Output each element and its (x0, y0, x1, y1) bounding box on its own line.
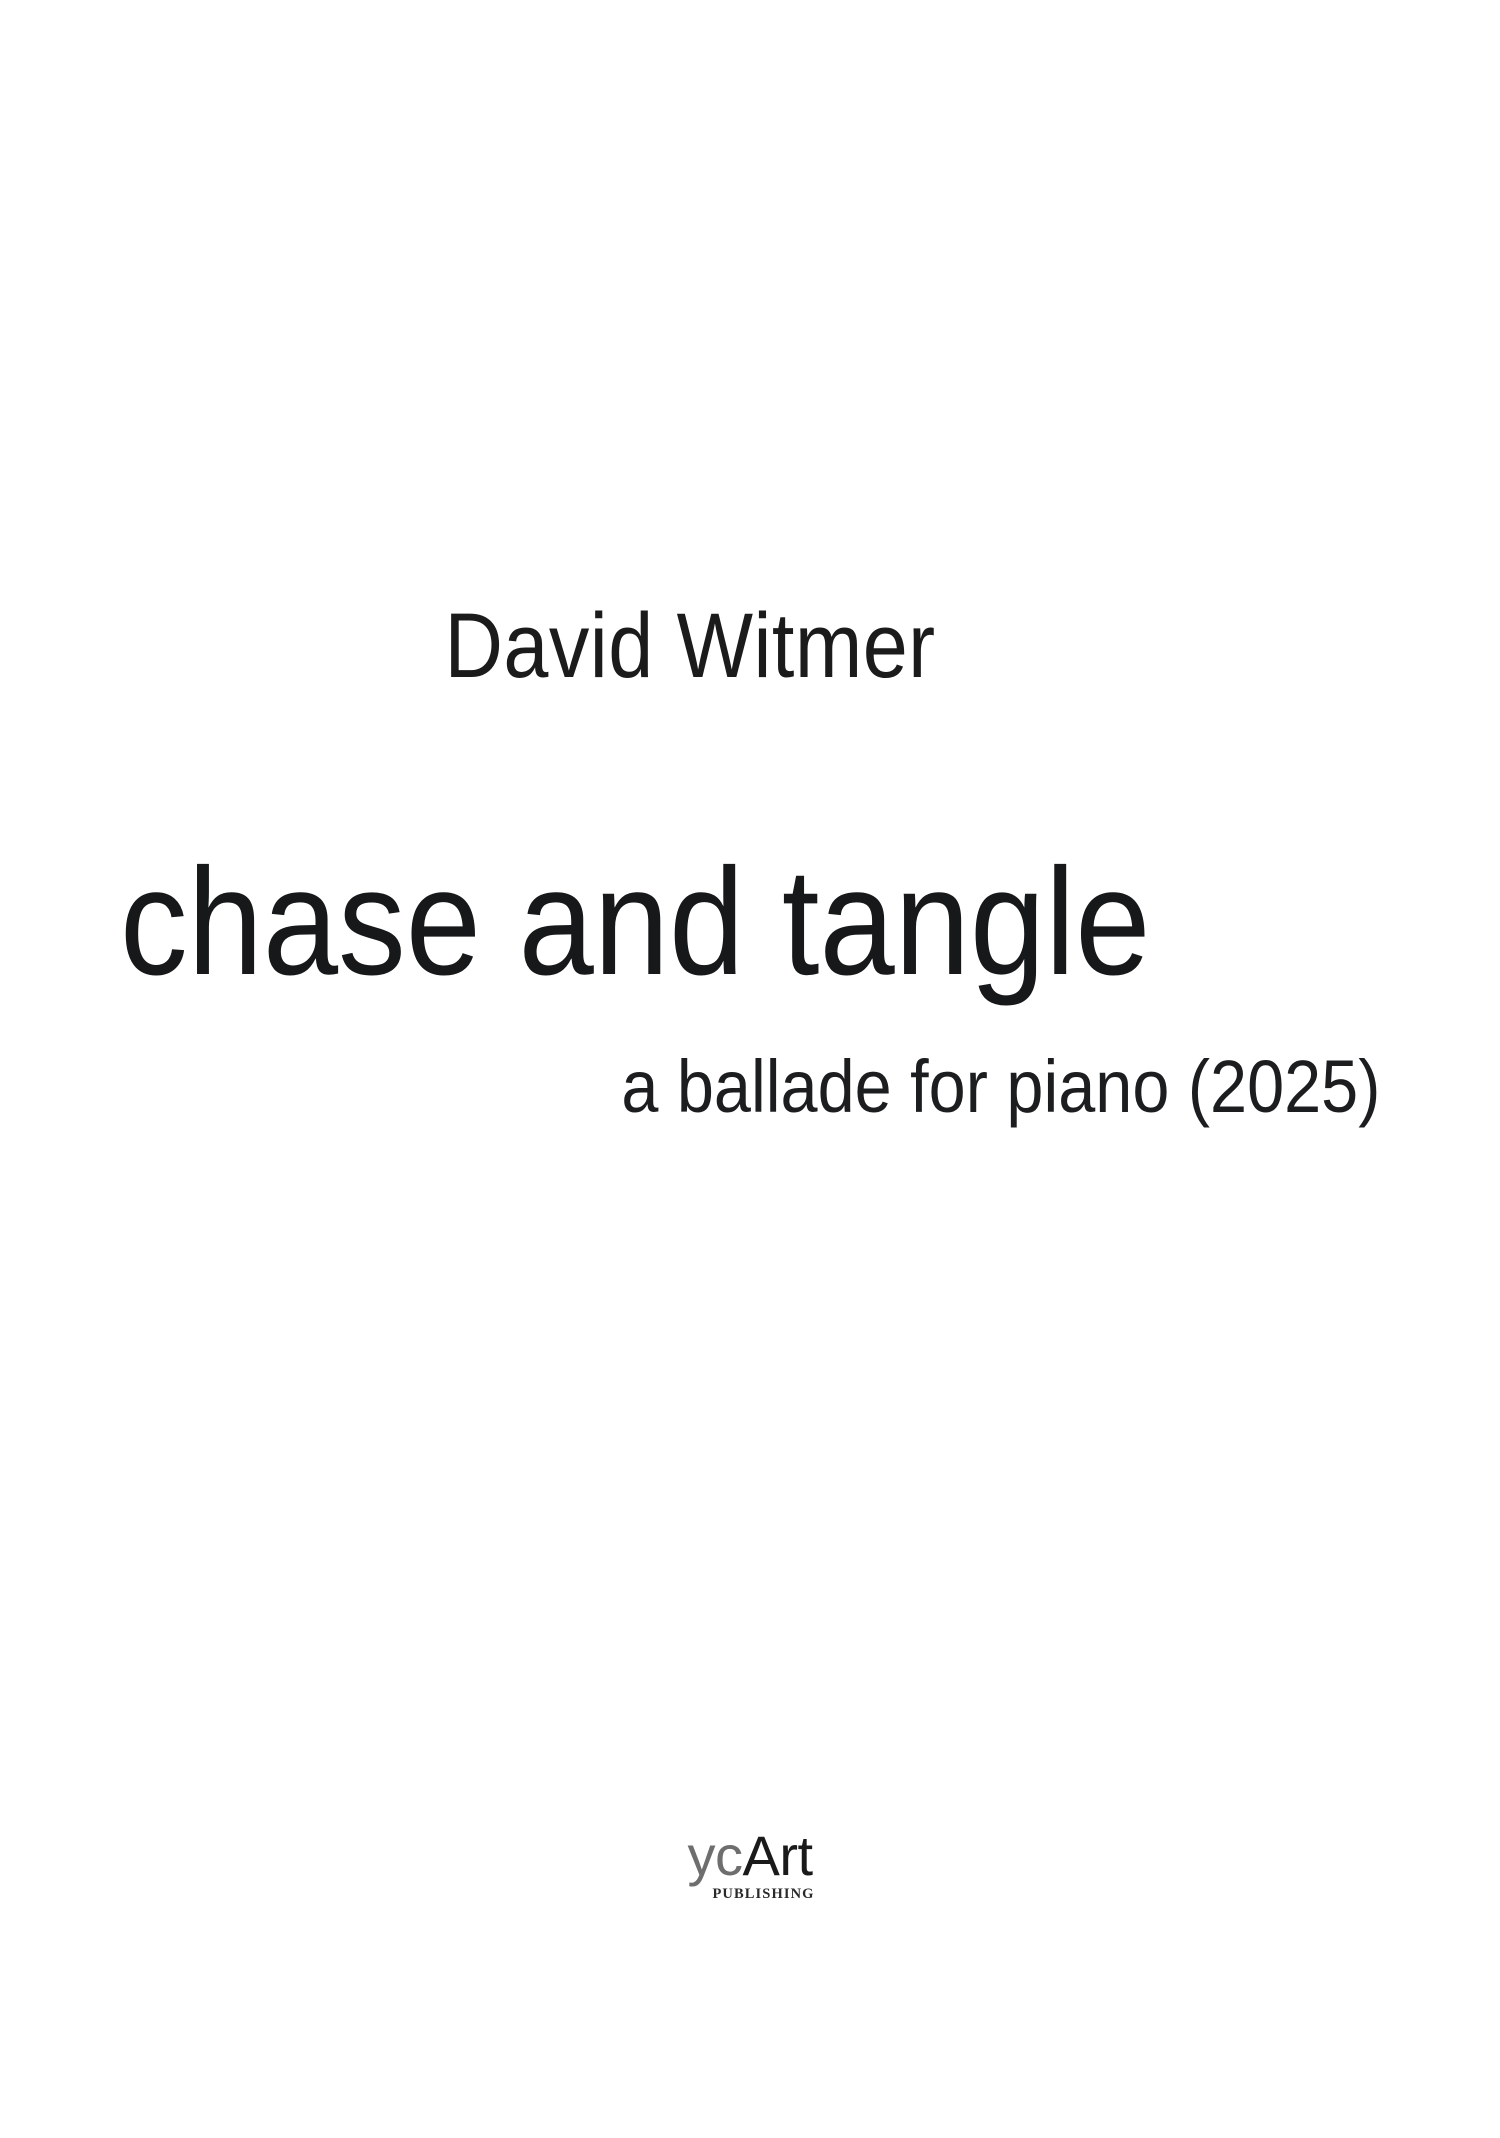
work-title: chase and tangle (120, 845, 1241, 1000)
publisher-wordmark-yc: yc (687, 1824, 742, 1887)
title-block: chase and tangle (120, 845, 1380, 1000)
publisher-tagline: PUBLISHING (712, 1887, 814, 1902)
publisher-wordmark-art: Art (742, 1824, 812, 1887)
title-page: David Witmer chase and tangle a ballade … (0, 0, 1500, 2138)
composer-name: David Witmer (444, 600, 935, 692)
work-subtitle: a ballade for piano (2025) (621, 1048, 1380, 1126)
subtitle-block: a ballade for piano (2025) (120, 1048, 1380, 1126)
publisher-logo: ycArt PUBLISHING (687, 1828, 812, 1884)
publisher-wordmark: ycArt (687, 1824, 812, 1887)
publisher-block: ycArt PUBLISHING (0, 1828, 1500, 1884)
composer-block: David Witmer (0, 600, 1380, 692)
